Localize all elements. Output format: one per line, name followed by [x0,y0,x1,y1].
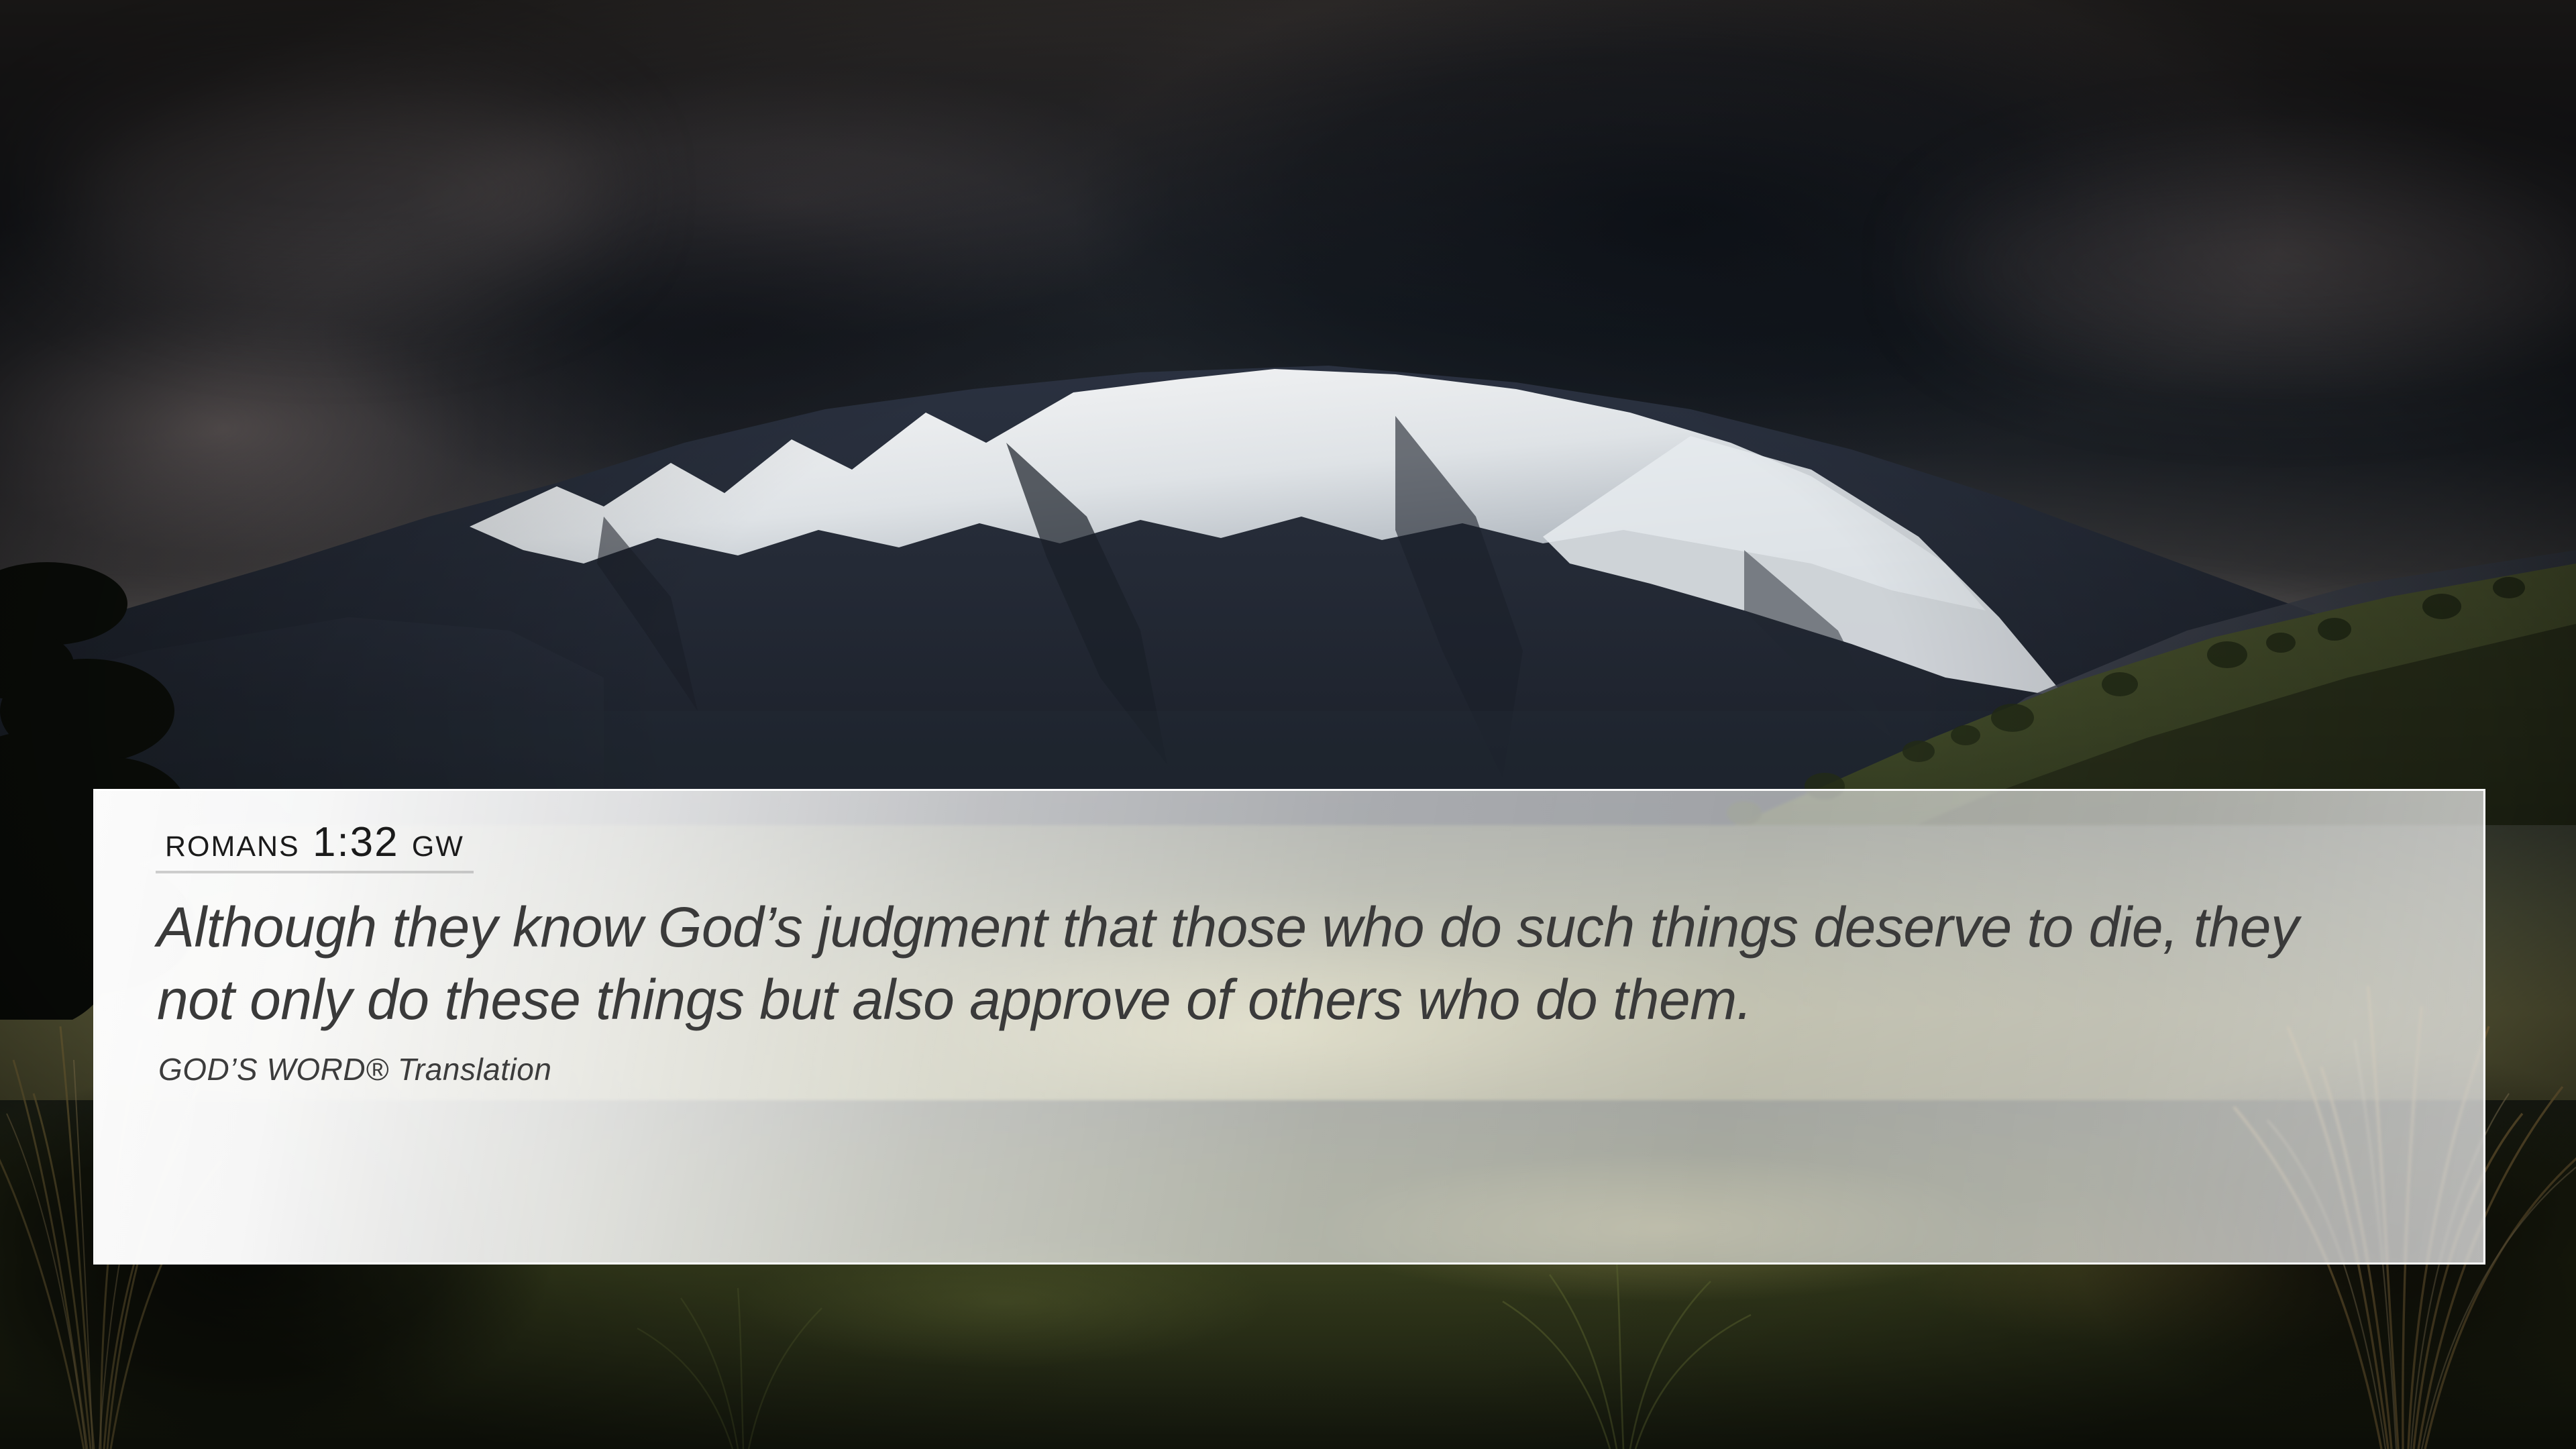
verse-attribution: GOD’S WORD® Translation [158,1051,2440,1087]
verse-quote-panel: Romans 1:32 GW Although they know God’s … [93,789,2485,1265]
verse-reference: Romans 1:32 GW [156,820,474,873]
cloud-wisp [54,80,604,302]
verse-text: Although they know God’s judgment that t… [157,891,2357,1036]
verse-wallpaper: Romans 1:32 GW Although they know God’s … [0,0,2576,1449]
grass-tuft [604,1234,872,1449]
